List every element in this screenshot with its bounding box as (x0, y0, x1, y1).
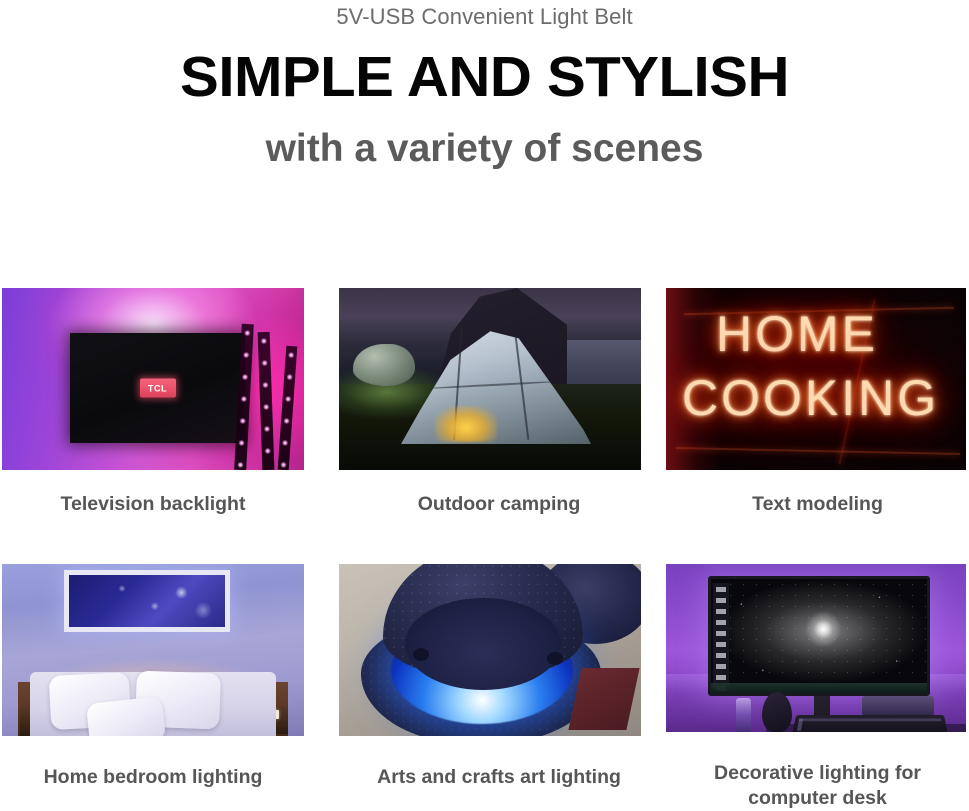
ring-notch-shape (547, 652, 563, 665)
led-strip-icon (278, 346, 298, 470)
monitor-taskbar-overlay (711, 683, 927, 693)
caption-home-bedroom-lighting: Home bedroom lighting (0, 765, 330, 790)
picture-bokeh (69, 575, 225, 627)
rock-shape (353, 344, 415, 386)
gallery-item-computer-desk[interactable]: Decorative lighting for computer desk (660, 564, 969, 811)
photo-bedroom (2, 564, 304, 736)
photo-arts-crafts (339, 564, 641, 736)
gallery-item-arts-and-crafts[interactable]: Arts and crafts art lighting (330, 564, 660, 811)
photo-outdoor-camping (339, 288, 641, 470)
caption-outdoor-camping: Outdoor camping (330, 492, 660, 517)
product-infographic-page: 5V-USB Convenient Light Belt SIMPLE AND … (0, 0, 969, 811)
caption-arts-and-crafts: Arts and crafts art lighting (330, 765, 660, 790)
gallery-row: TCL Television backlight (0, 288, 969, 564)
caption-line-2: computer desk (748, 787, 887, 809)
photo-television-backlight: TCL (2, 288, 304, 470)
photo-neon-sign: HOME COOKING (666, 288, 966, 470)
galaxy-wallpaper (711, 579, 927, 693)
ring-notch-shape (413, 648, 429, 661)
scene-gallery: TCL Television backlight (0, 288, 969, 811)
keyboard-shape (792, 715, 948, 732)
pillow-shape (86, 696, 166, 736)
gallery-item-television-backlight[interactable]: TCL Television backlight (0, 288, 330, 564)
tv-screen-shape: TCL (70, 333, 245, 443)
product-subtitle: 5V-USB Convenient Light Belt (0, 2, 969, 32)
stone-inner-shadow (405, 598, 561, 690)
tcl-logo: TCL (140, 379, 176, 398)
page-tagline: with a variety of scenes (0, 124, 969, 174)
red-panel-shape (568, 668, 639, 730)
led-strip-icon (258, 332, 275, 470)
caption-television-backlight: Television backlight (0, 492, 330, 517)
header: 5V-USB Convenient Light Belt SIMPLE AND … (0, 0, 969, 174)
bottle-shape (736, 698, 751, 732)
neon-text-line-2: COOKING (680, 366, 966, 430)
page-title: SIMPLE AND STYLISH (0, 42, 969, 112)
caption-computer-desk: Decorative lighting for computer desk (660, 761, 969, 811)
monitor-sidebar-overlay (713, 583, 729, 695)
speaker-shape (862, 696, 934, 716)
gallery-item-text-modeling[interactable]: HOME COOKING Text modeling (660, 288, 969, 564)
headset-shape (762, 692, 792, 732)
monitor-shape (708, 576, 930, 696)
neon-text-line-1: HOME (680, 302, 966, 366)
caption-text-modeling: Text modeling (660, 492, 969, 517)
gallery-item-home-bedroom-lighting[interactable]: Home bedroom lighting (0, 564, 330, 811)
gallery-row: Home bedroom lighting Arts and crafts ar… (0, 564, 969, 811)
photo-computer-desk (666, 564, 966, 732)
gallery-item-outdoor-camping[interactable]: Outdoor camping (330, 288, 660, 564)
caption-line-1: Decorative lighting for (714, 762, 921, 784)
neon-sign-text: HOME COOKING (680, 302, 966, 430)
wall-picture-shape (64, 570, 230, 632)
tent-lamp-glow (435, 406, 497, 442)
